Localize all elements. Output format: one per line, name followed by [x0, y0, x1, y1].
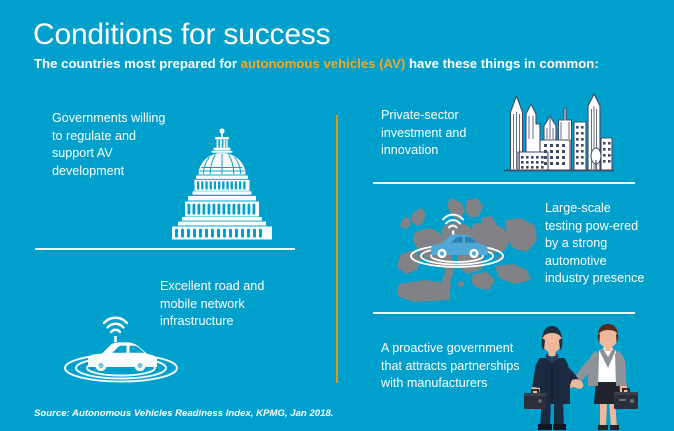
page-subtitle: The countries most prepared for autonomo… — [34, 56, 599, 72]
block-large-scale-text: Large-scale testing pow-ered by a strong… — [545, 200, 650, 288]
block-proactive-text: A proactive government that attracts par… — [381, 340, 536, 393]
horizontal-divider-right-upper — [373, 182, 635, 184]
block-government-text: Governments willing to regulate and supp… — [52, 110, 172, 180]
block-private-sector-text: Private-sector investment and innovation — [381, 107, 501, 160]
handshake-business-people-icon — [520, 324, 646, 431]
subtitle-highlight: autonomous vehicles (AV) — [241, 56, 406, 71]
source-note: Source: Autonomous Vehicles Readiness In… — [34, 408, 333, 420]
horizontal-divider-right-lower — [373, 312, 635, 314]
capitol-building-icon — [168, 126, 276, 240]
subtitle-text-after: have these things in common: — [405, 56, 598, 71]
horizontal-divider-left — [35, 248, 295, 250]
europe-map-car-icon — [395, 196, 540, 304]
page-title: Conditions for success — [33, 18, 330, 52]
city-skyline-icon — [500, 90, 616, 176]
infographic-canvas: Conditions for success The countries mos… — [0, 0, 674, 431]
subtitle-text-before: The countries most prepared for — [34, 56, 241, 71]
connected-car-icon — [55, 310, 185, 388]
vertical-divider — [336, 115, 338, 383]
